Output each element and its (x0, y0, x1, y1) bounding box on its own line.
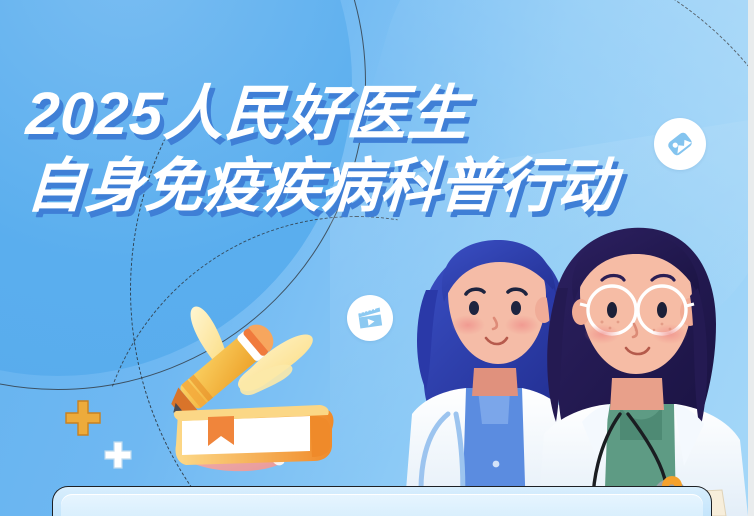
doctors-illustration (404, 218, 748, 516)
plus-orange-icon (63, 398, 103, 438)
video-icon[interactable] (347, 295, 393, 341)
doctor-right (538, 228, 748, 516)
video-icon-glyph (356, 304, 384, 332)
title-line-1: 2025人民好医生 (24, 78, 618, 150)
content-card[interactable] (52, 486, 712, 516)
image-icon[interactable] (654, 118, 706, 170)
image-icon-glyph (664, 128, 696, 160)
stationery-illustration (160, 305, 360, 485)
title-line-2: 自身免疫疾病科普行动 (24, 150, 618, 222)
page-gutter (748, 0, 754, 516)
page-title: 2025人民好医生 自身免疫疾病科普行动 (26, 78, 616, 222)
content-card-inner (61, 494, 703, 516)
campaign-banner: 2025人民好医生 自身免疫疾病科普行动 (0, 0, 748, 516)
plus-white-icon (103, 440, 133, 470)
book (174, 405, 334, 465)
